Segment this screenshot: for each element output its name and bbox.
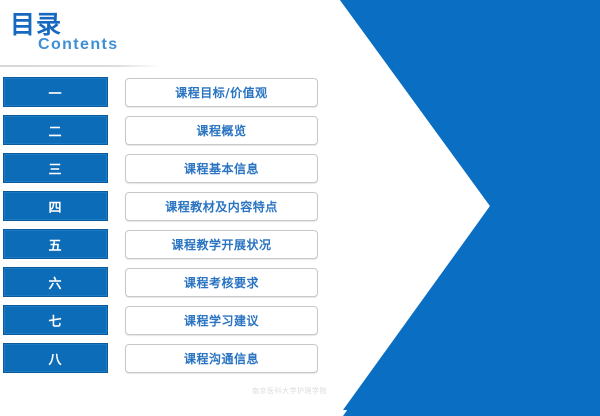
- contents-row-index: 六: [3, 267, 108, 297]
- contents-row[interactable]: 四 课程教材及内容特点: [0, 191, 330, 221]
- contents-row[interactable]: 八 课程沟通信息: [0, 343, 330, 373]
- contents-row[interactable]: 一 课程目标/价值观: [0, 77, 330, 107]
- contents-row-index: 三: [3, 153, 108, 183]
- contents-row-label[interactable]: 课程基本信息: [125, 154, 318, 183]
- contents-row-label[interactable]: 课程教学开展状况: [125, 230, 318, 259]
- contents-row-index: 一: [3, 77, 108, 107]
- slide-canvas: 目录 Contents 一 课程目标/价值观 二 课程概览 三 课程基本信息 四…: [0, 0, 600, 416]
- title-block: 目录 Contents: [10, 12, 230, 54]
- contents-row-index: 二: [3, 115, 108, 145]
- contents-row-label[interactable]: 课程概览: [125, 116, 318, 145]
- contents-row[interactable]: 三 课程基本信息: [0, 153, 330, 183]
- contents-row-index: 七: [3, 305, 108, 335]
- contents-row-label[interactable]: 课程目标/价值观: [125, 78, 318, 107]
- contents-list: 一 课程目标/价值观 二 课程概览 三 课程基本信息 四 课程教材及内容特点 五…: [0, 77, 330, 381]
- contents-row-index: 八: [3, 343, 108, 373]
- contents-row[interactable]: 六 课程考核要求: [0, 267, 330, 297]
- contents-row[interactable]: 七 课程学习建议: [0, 305, 330, 335]
- contents-row[interactable]: 五 课程教学开展状况: [0, 229, 330, 259]
- title-divider: [0, 65, 160, 67]
- contents-row-label[interactable]: 课程沟通信息: [125, 344, 318, 373]
- contents-row[interactable]: 二 课程概览: [0, 115, 330, 145]
- page-subtitle: Contents: [38, 36, 230, 54]
- footer-watermark: 南京医科大学护理学院: [252, 386, 327, 396]
- contents-row-label[interactable]: 课程学习建议: [125, 306, 318, 335]
- contents-row-label[interactable]: 课程教材及内容特点: [125, 192, 318, 221]
- contents-row-label[interactable]: 课程考核要求: [125, 268, 318, 297]
- contents-row-index: 五: [3, 229, 108, 259]
- contents-row-index: 四: [3, 191, 108, 221]
- page-title: 目录: [10, 12, 230, 38]
